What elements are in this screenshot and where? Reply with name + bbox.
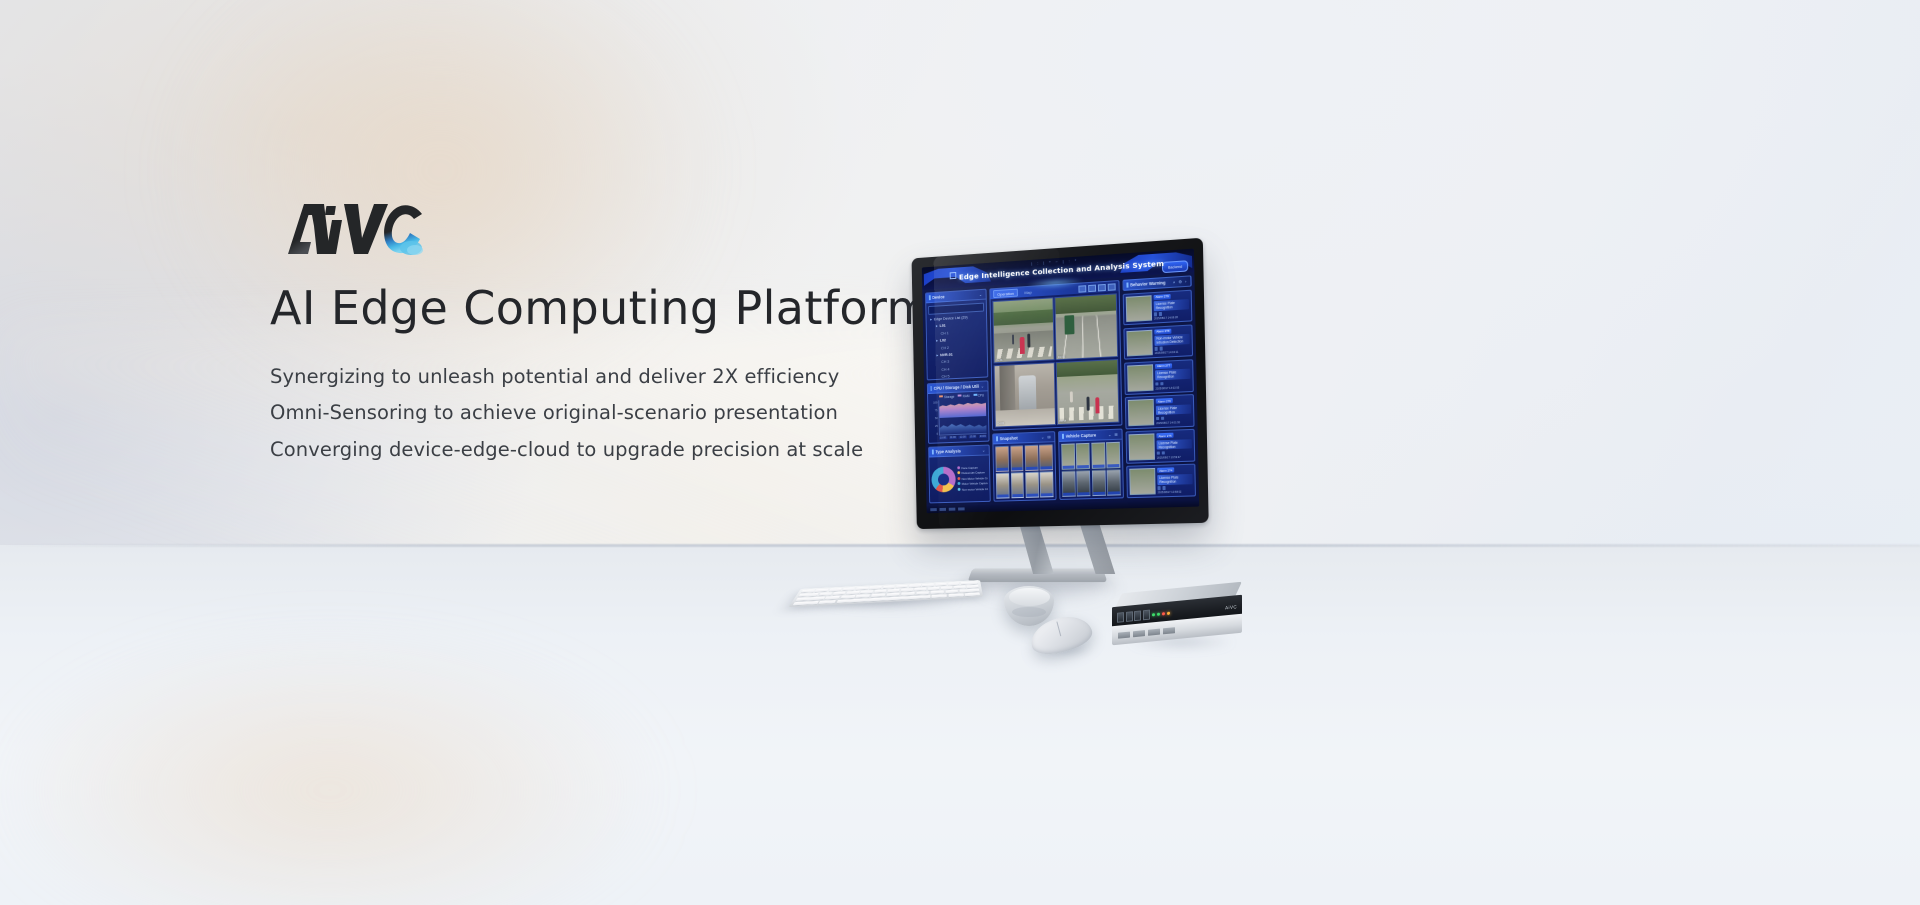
y-tick: 0	[931, 431, 938, 435]
legend-entry: Non-motor Vehicle Intrusion Detection	[958, 487, 988, 492]
video-scene-corridor	[995, 363, 1055, 426]
legend-label: Pedestrian Capture	[962, 471, 985, 476]
alarm-action-icons[interactable]	[1157, 450, 1192, 455]
chevron-right-icon	[930, 319, 932, 321]
vehicle-panel-title: Vehicle Capture	[1065, 432, 1096, 438]
snapshot-panel: Snapshot ⌄ ⊞	[992, 431, 1056, 502]
legend-entry: CPU	[973, 393, 984, 397]
snapshot-thumb[interactable]	[996, 473, 1010, 499]
snapshot-tag	[1041, 466, 1052, 469]
type-panel-body: Face Capture Pedestrian Capture Non-Moto…	[929, 455, 990, 502]
alarm-meta: Alarm 274 License Plate Recognition 2025…	[1157, 467, 1193, 494]
fullscreen-icon[interactable]	[1108, 283, 1116, 291]
legend-entry: RAM	[958, 394, 969, 398]
cpu-chart: 100 75 50 25 0	[930, 398, 987, 435]
type-donut-chart	[931, 466, 956, 492]
video-cell-label: CH 02	[1058, 355, 1065, 358]
tree-item-label: CH 4	[941, 367, 949, 371]
panel-accent-bar	[1062, 434, 1064, 439]
alarm-text: License Plate Recognition	[1157, 474, 1192, 485]
scene-pedestrian-red	[1020, 337, 1025, 354]
video-cell[interactable]: CH 01	[993, 297, 1055, 363]
vehicle-grid	[1061, 442, 1121, 497]
vehicle-thumb[interactable]	[1062, 471, 1076, 497]
legend-label: Motor Vehicle Capture	[962, 482, 988, 487]
device-panel-icons[interactable]: ⌄	[979, 292, 983, 297]
alarm-thumbnail	[1128, 399, 1154, 426]
cpu-panel-title: CPU / Storage / Disk Utilization	[934, 384, 979, 391]
snapshot-tag	[997, 467, 1008, 470]
scene-trees	[1057, 360, 1117, 378]
video-cell-label: CH 03	[997, 423, 1004, 426]
scene-vegetation	[1056, 294, 1116, 314]
legend-entry: Pedestrian Capture	[957, 471, 987, 476]
cpu-chart-plot	[938, 398, 986, 435]
play-icon[interactable]	[1154, 312, 1158, 316]
status-led-green	[1157, 612, 1160, 615]
panel-accent-bar	[1126, 283, 1128, 288]
download-icon[interactable]	[1162, 486, 1166, 490]
taskbar-item-icon[interactable]	[949, 508, 956, 511]
legend-label: CPU	[978, 393, 984, 397]
legend-label: Non-motor Vehicle Intrusion Detection	[962, 487, 988, 492]
alarm-meta: Alarm 276 License Plate Recognition 2025…	[1156, 397, 1192, 425]
taskbar-item-icon[interactable]	[958, 507, 965, 510]
download-icon[interactable]	[1160, 347, 1164, 351]
chevron-right-icon	[936, 340, 938, 342]
monitor-bezel: | : | * ~ | : * Edge Intelligence Collec…	[912, 238, 1209, 529]
tree-item-label: CH 5	[941, 375, 949, 379]
left-column: Device ⌄ Edge Device List (29) L01 CH 1	[925, 289, 991, 504]
y-tick: 75	[930, 408, 937, 412]
tree-item-label: L01	[940, 324, 946, 328]
video-cell[interactable]: CH 02	[1055, 293, 1118, 360]
scene-pedestrian-red	[1095, 398, 1100, 414]
legend-entry: Motor Vehicle Capture	[958, 482, 988, 487]
hero-banner: AI Edge Computing Platform Synergizing t…	[0, 0, 1920, 905]
snapshot-tag	[1012, 494, 1023, 497]
vehicle-thumb[interactable]	[1107, 469, 1121, 495]
alarm-badge: Alarm 279	[1153, 294, 1170, 300]
drive-slot	[1118, 631, 1130, 638]
snapshot-panel-body	[994, 442, 1056, 501]
alarm-panel-title: Behavior Warning	[1130, 280, 1166, 287]
snapshot-tag	[1011, 467, 1022, 470]
snapshot-tag	[1041, 493, 1052, 496]
status-led-green	[1152, 613, 1155, 616]
key[interactable]	[792, 601, 818, 606]
type-donut-wrap: Face Capture Pedestrian Capture Non-Moto…	[931, 457, 988, 500]
snapshot-thumb[interactable]	[1025, 472, 1039, 498]
y-tick: 100	[930, 400, 937, 404]
vehicle-tag	[1093, 492, 1105, 495]
vehicle-tag	[1078, 492, 1090, 495]
alarm-text: Non-motor Vehicle Intrusion Detection	[1154, 334, 1189, 346]
speaker-puck[interactable]	[1004, 586, 1054, 626]
alarm-text: License Plate Recognition	[1155, 369, 1190, 381]
vehicle-tag	[1108, 491, 1120, 494]
alarm-panel-header: Behavior Warning ⌕ ⚙ ›	[1122, 275, 1191, 291]
all-in-one-monitor: | : | * ~ | : * Edge Intelligence Collec…	[912, 238, 1209, 529]
app-body: Device ⌄ Edge Device List (29) L01 CH 1	[922, 272, 1199, 506]
alarm-badge: Alarm 275	[1156, 433, 1173, 439]
status-led-red	[1162, 612, 1165, 615]
device-panel-body: Edge Device List (29) L01 CH 1 L02 CH 2 …	[926, 300, 987, 380]
scene-truck	[1064, 315, 1074, 334]
vehicle-panel-body	[1059, 439, 1123, 498]
ethernet-port-icon	[1126, 611, 1133, 622]
vehicle-tag	[1063, 493, 1075, 496]
layout-2x2-icon[interactable]	[1088, 284, 1096, 292]
x-tick: 12:00	[959, 435, 967, 438]
snapshot-thumb[interactable]	[1040, 471, 1054, 497]
vehicle-thumb[interactable]	[1076, 443, 1090, 469]
vehicle-tag	[1108, 464, 1120, 467]
panel-accent-bar	[931, 386, 932, 391]
ethernet-port-icon	[1143, 610, 1150, 621]
alarm-thumbnail	[1129, 434, 1155, 461]
tree-item-label: CH 2	[941, 346, 949, 350]
alarm-timestamp: 2025/08/17 14:02:55	[1155, 385, 1190, 390]
chevron-right-icon	[936, 325, 938, 327]
center-column: Operation Map	[990, 280, 1124, 502]
alarm-meta: Alarm 279 License Plate Recognition 2025…	[1153, 292, 1189, 320]
product-hardware-scene: | : | * ~ | : * Edge Intelligence Collec…	[780, 240, 1300, 670]
x-tick: 13:00	[969, 435, 977, 438]
vehicle-tag	[1093, 464, 1105, 467]
snapshot-thumb[interactable]	[1025, 445, 1039, 471]
alarm-timestamp: 2025/08/17 14:04:11	[1155, 351, 1190, 356]
snapshot-tag	[997, 494, 1008, 497]
vehicle-thumb[interactable]	[1106, 442, 1120, 469]
cpu-series-storage-ram	[939, 400, 986, 418]
legend-label: Storage	[944, 395, 954, 399]
download-icon[interactable]	[1161, 416, 1165, 420]
tree-item-label: L02	[940, 338, 946, 342]
snapshot-panel-title: Snapshot	[1000, 435, 1018, 441]
video-cell[interactable]: CH 04	[1056, 359, 1119, 425]
ethernet-port-icon	[1117, 612, 1124, 623]
legend-swatch	[939, 396, 943, 398]
alarm-card[interactable]: Alarm 279 License Plate Recognition 2025…	[1123, 289, 1193, 325]
alarm-action-icons[interactable]	[1156, 415, 1191, 420]
vehicle-thumb[interactable]	[1061, 443, 1075, 469]
alarm-text: License Plate Recognition	[1154, 299, 1189, 311]
alarm-thumbnail	[1126, 329, 1152, 356]
video-cell-label: CH 04	[1059, 420, 1066, 423]
lane-line	[1096, 315, 1101, 359]
tree-item-label: Edge Device List (29)	[934, 315, 968, 321]
drive-slot	[1133, 630, 1145, 637]
x-tick: 11:00	[949, 436, 957, 439]
play-icon[interactable]	[1157, 451, 1161, 455]
legend-swatch	[958, 488, 961, 491]
cpu-panel-menu-icon[interactable]: ⌄	[981, 383, 985, 388]
cpu-series-cpu	[940, 418, 987, 434]
vehicle-tag	[1063, 465, 1075, 468]
alarm-text: License Plate Recognition	[1156, 404, 1191, 415]
tab-map[interactable]: Map	[1020, 287, 1035, 296]
y-tick: 50	[930, 416, 937, 420]
drive-slot	[1148, 628, 1160, 635]
video-scene-street	[1057, 360, 1118, 424]
alarm-thumbnail	[1127, 364, 1153, 391]
legend-entry: Non-Motor Vehicle Capture	[957, 476, 987, 481]
type-analysis-panel: Type Analysis ⌄ Face Capture Pedestrian …	[928, 444, 991, 503]
center-bottom-row: Snapshot ⌄ ⊞	[992, 428, 1123, 501]
tree-item-label: CH 1	[941, 331, 949, 335]
alarm-badge: Alarm 277	[1155, 363, 1172, 369]
scene-pedestrian	[1012, 335, 1015, 345]
snapshot-tag	[1026, 466, 1037, 469]
snapshot-thumb[interactable]	[1010, 445, 1024, 471]
alarm-meta: Alarm 277 License Plate Recognition 2025…	[1155, 362, 1191, 390]
drive-slot	[1163, 627, 1175, 634]
alarm-badge: Alarm 276	[1156, 398, 1173, 404]
tree-item-label: CH 3	[941, 360, 949, 364]
layout-3x3-icon[interactable]	[1098, 283, 1106, 291]
legend-swatch	[958, 395, 962, 397]
panel-accent-bar	[929, 295, 930, 300]
scene-pedestrian	[1086, 397, 1089, 411]
alarm-text: License Plate Recognition	[1156, 439, 1191, 450]
vehicle-panel-menu-icon[interactable]: ⌄ ⊞	[1108, 432, 1119, 437]
vehicle-thumb[interactable]	[1092, 470, 1106, 496]
legend-label: Non-Motor Vehicle Capture	[962, 476, 988, 481]
scene-pedestrian	[1070, 391, 1074, 402]
legend-swatch	[957, 477, 960, 480]
alarm-card[interactable]: Alarm 276 License Plate Recognition 2025…	[1125, 394, 1195, 429]
legend-entry: Storage	[939, 395, 954, 400]
taskbar-item-icon[interactable]	[930, 508, 937, 511]
play-icon[interactable]	[1155, 382, 1159, 386]
port-group	[1117, 610, 1150, 623]
tree-item-label: NVR-01	[940, 353, 953, 358]
alarm-card[interactable]: Alarm 277 License Plate Recognition 2025…	[1124, 359, 1194, 394]
layout-1x1-icon[interactable]	[1078, 285, 1086, 293]
video-grid: CH 01	[991, 291, 1122, 429]
device-panel-title: Device	[932, 294, 945, 300]
video-wall-panel: Operation Map	[990, 280, 1123, 430]
device-panel: Device ⌄ Edge Device List (29) L01 CH 1	[925, 289, 988, 381]
legend-swatch	[958, 482, 961, 485]
video-cell-label: CH 01	[996, 359, 1003, 362]
alarm-panel-controls[interactable]: ⌕ ⚙ ›	[1173, 279, 1188, 285]
download-icon[interactable]	[1160, 382, 1164, 386]
legend-label: RAM	[963, 394, 970, 398]
snapshot-thumb[interactable]	[1011, 472, 1025, 498]
monitor-screen: | : | * ~ | : * Edge Intelligence Collec…	[922, 249, 1199, 514]
play-icon[interactable]	[1156, 417, 1160, 421]
legend-swatch	[957, 466, 960, 469]
panel-accent-bar	[996, 436, 998, 441]
alarm-timestamp: 2025/08/17 13:59:47	[1157, 455, 1192, 459]
alarm-thumbnail	[1129, 468, 1155, 495]
download-icon[interactable]	[1162, 451, 1166, 455]
snapshot-panel-menu-icon[interactable]: ⌄ ⊞	[1041, 434, 1052, 439]
alarm-timestamp: 2025/08/17 14:01:30	[1156, 420, 1191, 424]
alarm-meta: Alarm 278 Non-motor Vehicle Intrusion De…	[1154, 327, 1190, 355]
vehicle-thumb[interactable]	[1091, 442, 1105, 468]
alarm-card[interactable]: Alarm 274 License Plate Recognition 2025…	[1126, 464, 1196, 498]
snapshot-tag	[1027, 494, 1038, 497]
backend-button[interactable]: Backend	[1162, 260, 1188, 273]
alarm-timestamp: 2025/08/17 14:06:28	[1154, 316, 1189, 321]
scene-floor	[996, 408, 1055, 426]
snapshot-grid	[996, 444, 1054, 499]
key[interactable]	[948, 593, 963, 597]
key[interactable]	[818, 600, 836, 604]
y-tick: 25	[930, 424, 937, 428]
chevron-right-icon	[936, 354, 938, 356]
cpu-panel-body: Storage RAM CPU 100 75 50	[928, 391, 989, 442]
download-icon[interactable]	[1159, 312, 1163, 316]
video-scene-crosswalk	[994, 298, 1054, 362]
vehicle-tag	[1078, 465, 1090, 468]
alarm-action-icons[interactable]	[1157, 485, 1192, 490]
type-legend: Face Capture Pedestrian Capture Non-Moto…	[957, 457, 988, 500]
snapshot-thumb[interactable]	[1039, 444, 1053, 470]
key[interactable]	[965, 592, 980, 596]
ethernet-port-icon	[1134, 610, 1141, 621]
alarm-meta: Alarm 275 License Plate Recognition 2025…	[1156, 432, 1192, 459]
alarm-card[interactable]: Alarm 278 Non-motor Vehicle Intrusion De…	[1123, 324, 1193, 360]
alarm-thumbnail	[1126, 295, 1152, 323]
play-icon[interactable]	[1155, 347, 1159, 351]
tab-operation[interactable]: Operation	[993, 289, 1017, 298]
app-logo-icon	[950, 271, 957, 278]
alarm-badge: Alarm 278	[1154, 328, 1171, 334]
vehicle-capture-panel: Vehicle Capture ⌄ ⊞	[1058, 428, 1124, 500]
play-icon[interactable]	[1157, 486, 1161, 490]
type-panel-menu-icon[interactable]: ⌄	[982, 447, 986, 452]
alarm-timestamp: 2025/08/17 13:58:02	[1158, 490, 1193, 494]
vehicle-thumb[interactable]	[1077, 470, 1091, 496]
legend-label: Face Capture	[961, 466, 977, 470]
lane-line	[1082, 316, 1083, 360]
legend-swatch	[973, 394, 977, 396]
panel-accent-bar	[932, 449, 933, 454]
right-column: Behavior Warning ⌕ ⚙ › Alarm 279 License…	[1122, 275, 1196, 498]
snapshot-thumb[interactable]	[996, 446, 1010, 472]
x-tick: 14:00	[979, 434, 987, 437]
x-tick: 10:00	[939, 436, 947, 439]
cpu-usage-panel: CPU / Storage / Disk Utilization ⌄ Stora…	[927, 380, 990, 443]
status-led-orange	[1167, 611, 1170, 614]
video-cell[interactable]: CH 03	[994, 362, 1056, 427]
device-tree: Edge Device List (29) L01 CH 1 L02 CH 2 …	[928, 313, 986, 379]
taskbar-item-icon[interactable]	[940, 508, 947, 511]
alarm-badge: Alarm 274	[1157, 468, 1174, 474]
scene-hedge	[994, 309, 1053, 326]
video-scene-highway	[1056, 294, 1117, 359]
alarm-card[interactable]: Alarm 275 License Plate Recognition 2025…	[1126, 429, 1196, 464]
key[interactable]	[932, 594, 947, 598]
legend-entry: Face Capture	[957, 465, 987, 470]
legend-swatch	[957, 472, 960, 475]
type-panel-title: Type Analysis	[935, 448, 961, 454]
edge-device-brand: AiVC	[1225, 604, 1237, 610]
